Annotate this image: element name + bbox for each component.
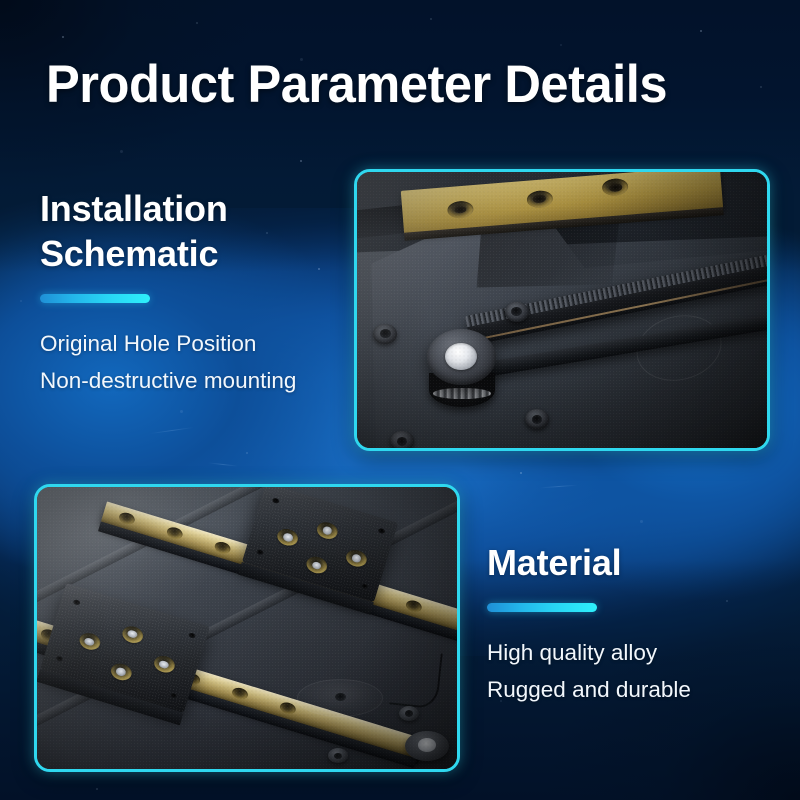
material-divider xyxy=(487,603,597,612)
installation-divider xyxy=(40,294,150,303)
installation-photo-image xyxy=(357,172,767,448)
installation-heading: Installation Schematic xyxy=(40,186,296,276)
material-feature-lines: High quality alloy Rugged and durable xyxy=(487,634,691,708)
installation-feature-lines: Original Hole Position Non-destructive m… xyxy=(40,325,296,399)
product-infographic: Product Parameter Details xyxy=(0,0,800,800)
page-title: Product Parameter Details xyxy=(46,56,667,114)
material-photo-card xyxy=(34,484,460,772)
section-installation: Installation Schematic Original Hole Pos… xyxy=(40,186,296,399)
material-photo-image xyxy=(37,487,457,769)
section-material: Material High quality alloy Rugged and d… xyxy=(487,540,691,708)
material-heading: Material xyxy=(487,540,691,585)
installation-photo-card xyxy=(354,169,770,451)
photo-vignette xyxy=(357,172,767,448)
photo-vignette xyxy=(37,487,457,769)
